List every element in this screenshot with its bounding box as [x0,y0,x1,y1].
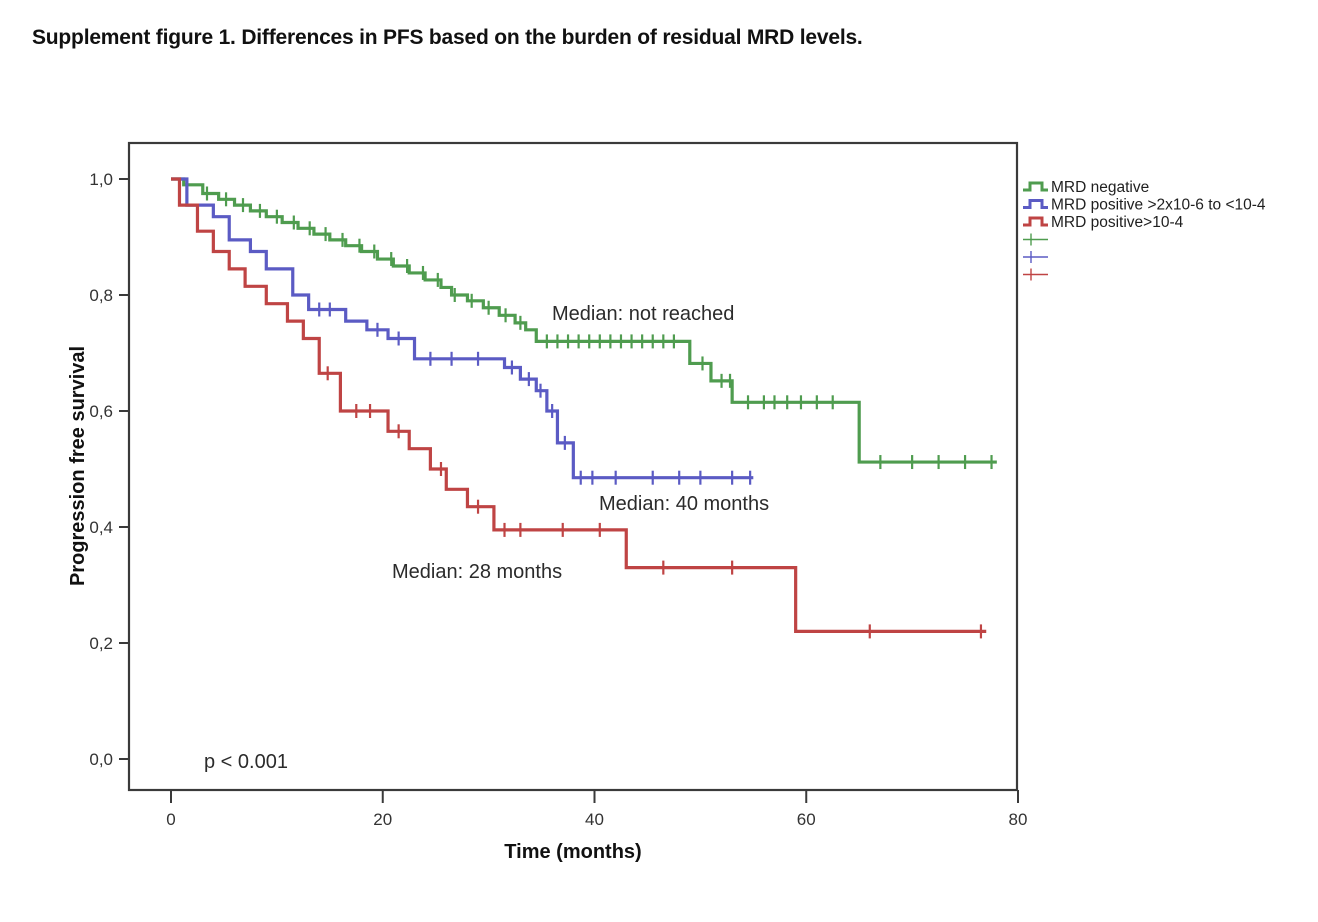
survival-chart: 0,00,20,40,60,81,0 020406080 Progression… [0,0,1318,922]
y-axis-tick-label: 1,0 [89,170,113,189]
legend-item-2[interactable]: MRD positive >2x10-6 to <10-4 [1023,197,1266,214]
chart-legend: MRD negativeMRD positive >2x10-6 to <10-… [1023,179,1266,281]
legend-item-4[interactable] [1023,234,1048,246]
y-axis: 0,00,20,40,60,81,0 [89,170,129,769]
legend-item-5[interactable] [1023,251,1048,263]
y-axis-tick-label: 0,8 [89,286,113,305]
x-axis-tick-label: 60 [797,810,816,829]
km-series-2 [171,179,753,485]
y-axis-title: Progression free survival [67,346,89,586]
legend-item-label: MRD positive >2x10-6 to <10-4 [1051,197,1266,214]
legend-item-label: MRD negative [1051,179,1149,196]
legend-swatch [1023,183,1048,190]
x-axis-tick-label: 40 [585,810,604,829]
x-axis-title: Time (months) [504,841,641,863]
x-axis-tick-label: 80 [1009,810,1028,829]
y-axis-tick-label: 0,0 [89,750,113,769]
legend-swatch [1023,218,1048,225]
x-axis-tick-label: 0 [166,810,175,829]
legend-item-6[interactable] [1023,269,1048,281]
km-series-3 [171,179,986,638]
annotation-pvalue: p < 0.001 [204,751,288,773]
y-axis-tick-label: 0,6 [89,402,113,421]
legend-swatch [1023,201,1048,208]
km-step-line [171,179,753,478]
figure-root: Supplement figure 1. Differences in PFS … [0,0,1318,922]
x-axis-tick-label: 20 [373,810,392,829]
y-axis-tick-label: 0,4 [89,518,113,537]
annotation-median-green: Median: not reached [552,303,734,325]
km-step-line [171,179,986,631]
x-axis: 020406080 [166,790,1027,829]
legend-item-3[interactable]: MRD positive>10-4 [1023,214,1184,231]
y-axis-tick-label: 0,2 [89,634,113,653]
annotation-median-blue: Median: 40 months [599,493,769,515]
legend-item-label: MRD positive>10-4 [1051,214,1184,231]
legend-item-1[interactable]: MRD negative [1023,179,1149,196]
km-curves [171,179,997,638]
annotation-median-red: Median: 28 months [392,561,562,583]
